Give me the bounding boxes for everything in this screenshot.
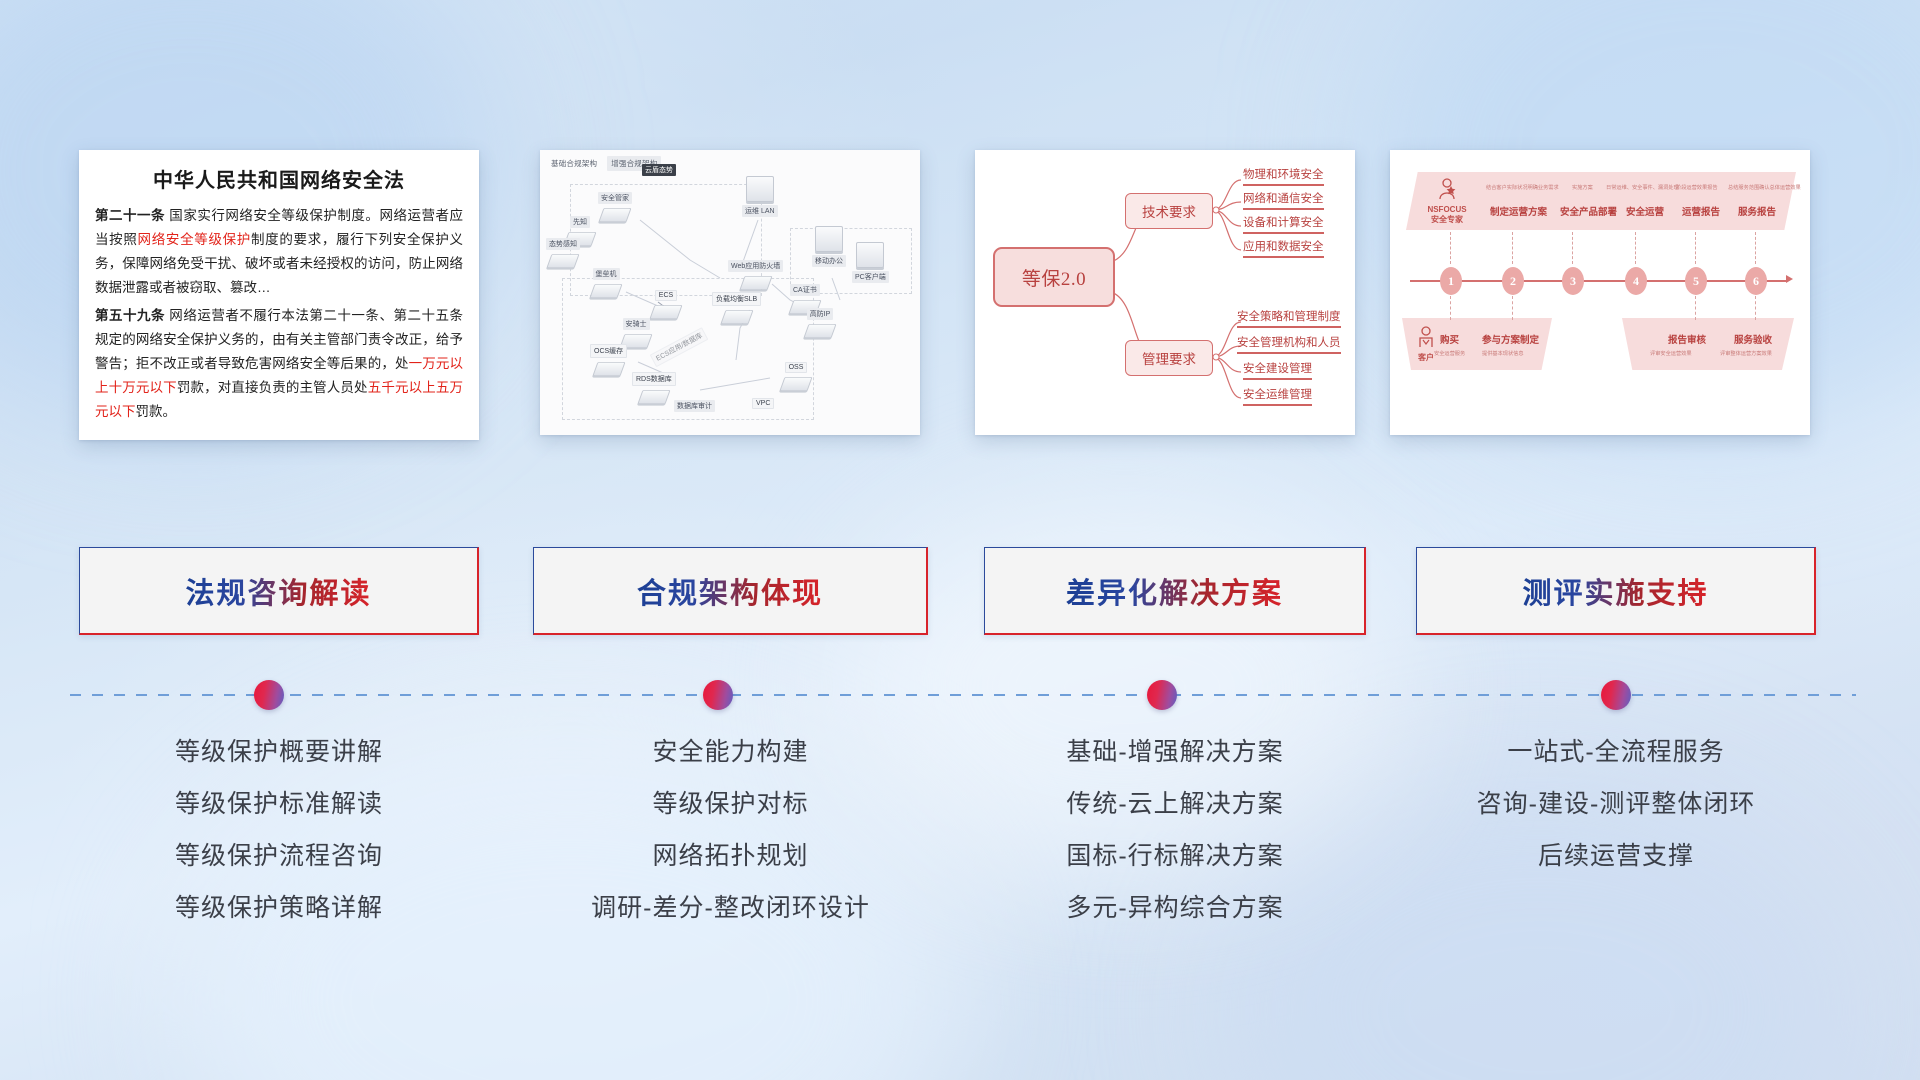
nsfocus-bottom-step-sub: 评审整体运营方案效果 <box>1720 350 1772 357</box>
architecture-node-label: 安全管家 <box>598 192 632 204</box>
nsfocus-top-step-title: 安全产品部署 <box>1560 204 1617 218</box>
server-icon <box>592 362 625 376</box>
list-item: 咨询-建设-测评整体闭环 <box>1416 792 1816 817</box>
nsfocus-bottom-step-sub: 评审安全运营效果 <box>1650 350 1692 357</box>
architecture-node-label: PC客户端 <box>852 271 889 283</box>
architecture-node-label: 高防IP <box>807 308 834 320</box>
server-icon <box>546 254 579 268</box>
preview-cards-row: 中华人民共和国网络安全法 第二十一条 国家实行网络安全等级保护制度。网络运营者应… <box>0 150 1920 445</box>
card-compliance-architecture[interactable]: 基础合规架构 增强合规架构 <box>540 150 920 435</box>
architecture-diagram: 基础合规架构 增强合规架构 <box>540 150 920 435</box>
architecture-node-db-audit: 数据库审计 <box>674 400 715 414</box>
list-item: 后续运营支撑 <box>1416 844 1816 869</box>
heading-label: 法规咨询解读 <box>185 570 371 612</box>
architecture-node-situation-awareness: 态势感知 <box>546 238 580 270</box>
mindmap-branch-management: 管理要求 <box>1125 340 1213 376</box>
nsfocus-top-step-title: 制定运营方案 <box>1490 204 1547 218</box>
mindmap-leaf: 应用和数据安全 <box>1243 238 1324 258</box>
architecture-node-rds-database: RDS数据库 <box>632 372 676 406</box>
list-item: 调研-差分-整改闭环设计 <box>533 896 928 921</box>
law-document: 中华人民共和国网络安全法 第二十一条 国家实行网络安全等级保护制度。网络运营者应… <box>79 150 479 440</box>
nsfocus-top-step-sub: 阶段运营效果报告 <box>1676 184 1718 191</box>
nsfocus-leader-line <box>1695 232 1697 264</box>
nsfocus-leader-line <box>1755 232 1757 264</box>
architecture-node-label: 负载均衡SLB <box>712 292 761 306</box>
nsfocus-leader-line <box>1695 296 1697 320</box>
heading-box-evaluation-support[interactable]: 测评实施支持 <box>1416 547 1816 635</box>
nsfocus-leader-line <box>1512 232 1514 264</box>
list-item: 安全能力构建 <box>533 740 928 765</box>
architecture-node-bastion-host: 堡垒机 <box>592 268 620 300</box>
law-article-21-highlight: 网络安全等级保护 <box>138 232 251 247</box>
architecture-node-label: 安骑士 <box>623 318 650 330</box>
architecture-node-label: Web应用防火墙 <box>728 260 783 272</box>
heading-box-compliance-architecture[interactable]: 合规架构体现 <box>533 547 928 635</box>
nsfocus-top-step-title: 运营报告 <box>1682 204 1720 218</box>
nsfocus-leader-line <box>1512 296 1514 320</box>
nsfocus-bottom-step-sub: 提供基本现状信息 <box>1482 350 1524 357</box>
architecture-node-label: 移动办公 <box>812 255 846 267</box>
nsfocus-top-step-sub: 实施方案 <box>1572 184 1593 191</box>
mindmap-leaf: 安全管理机构和人员 <box>1237 334 1341 354</box>
architecture-node-oss: OSS <box>782 362 810 393</box>
nsfocus-step-marker: 2 <box>1502 267 1524 295</box>
law-article-59-text-2: 罚款，对直接负责的主管人员处 <box>177 380 368 395</box>
expert-avatar-icon <box>1437 178 1457 200</box>
nsfocus-leader-line <box>1572 232 1574 264</box>
detail-list-compliance-architecture: 安全能力构建 等级保护对标 网络拓扑规划 调研-差分-整改闭环设计 <box>533 740 928 948</box>
architecture-node-cloud-shield: 云盾态势 <box>642 164 676 178</box>
mindmap-branch-technical: 技术要求 <box>1125 193 1213 229</box>
law-article-21: 第二十一条 国家实行网络安全等级保护制度。网络运营者应当按照网络安全等级保护制度… <box>95 204 463 300</box>
list-item: 等级保护对标 <box>533 792 928 817</box>
list-item: 多元-异构综合方案 <box>984 896 1366 921</box>
architecture-node-anti-ddos-ip: 高防IP <box>806 308 834 340</box>
timeline-dot-3[interactable] <box>1147 680 1177 710</box>
card-cybersecurity-law[interactable]: 中华人民共和国网络安全法 第二十一条 国家实行网络安全等级保护制度。网络运营者应… <box>79 150 479 440</box>
mindmap-root-node: 等保2.0 <box>993 247 1115 307</box>
legend-basic-architecture: 基础合规架构 <box>547 156 601 171</box>
architecture-node-slb: 负载均衡SLB <box>712 292 761 326</box>
slide-canvas: 中华人民共和国网络安全法 第二十一条 国家实行网络安全等级保护制度。网络运营者应… <box>0 0 1920 1080</box>
monitor-icon <box>746 176 774 202</box>
card-dengbao-mindmap[interactable]: 等保2.0 技术要求 管理要求 物理和环境安全 网络和通信安全 设备和计算安全 … <box>975 150 1355 435</box>
section-heading-row: 法规咨询解读 合规架构体现 差异化解决方案 测评实施支持 <box>0 547 1920 637</box>
detail-list-evaluation-support: 一站式-全流程服务 咨询-建设-测评整体闭环 后续运营支撑 <box>1416 740 1816 896</box>
architecture-node-pc-client: PC客户端 <box>852 242 889 283</box>
heading-label: 合规架构体现 <box>637 570 823 612</box>
mobile-icon <box>815 226 843 252</box>
architecture-node-mobile-office: 移动办公 <box>812 226 846 267</box>
mindmap-leaf: 网络和通信安全 <box>1243 190 1324 210</box>
law-article-21-label: 第二十一条 <box>95 208 165 223</box>
nsfocus-step-marker: 6 <box>1745 267 1767 295</box>
architecture-node-label: 先知 <box>570 216 590 228</box>
nsfocus-step-marker: 1 <box>1440 267 1462 295</box>
list-item: 基础-增强解决方案 <box>984 740 1366 765</box>
mindmap-leaf: 安全运维管理 <box>1243 386 1312 406</box>
nsfocus-expert-role: 安全专家 <box>1416 215 1478 225</box>
nsfocus-top-step-title: 服务报告 <box>1738 204 1776 218</box>
architecture-node-label: RDS数据库 <box>632 372 676 386</box>
detail-lists-row: 等级保护概要讲解 等级保护标准解读 等级保护流程咨询 等级保护策略详解 安全能力… <box>0 740 1920 970</box>
detail-list-regulation-consulting: 等级保护概要讲解 等级保护标准解读 等级保护流程咨询 等级保护策略详解 <box>79 740 479 948</box>
architecture-node-label: 云盾态势 <box>642 164 676 176</box>
card-nsfocus-service-timeline[interactable]: NSFOCUS 安全专家 结合客户实际状况明确业务需求 制定运营方案 实施方案 … <box>1390 150 1810 435</box>
list-item: 国标-行标解决方案 <box>984 844 1366 869</box>
mindmap-leaf: 安全策略和管理制度 <box>1237 308 1341 328</box>
nsfocus-bottom-step-title: 参与方案制定 <box>1482 332 1539 346</box>
timeline-dot-2[interactable] <box>703 680 733 710</box>
architecture-node-waf: Web应用防火墙 <box>728 260 783 292</box>
nsfocus-bottom-step-sub: 安全运营服务 <box>1434 350 1465 357</box>
timeline-dot-1[interactable] <box>254 680 284 710</box>
law-article-59: 第五十九条 网络运营者不履行本法第二十一条、第二十五条规定的网络安全保护义务的，… <box>95 304 463 424</box>
list-item: 传统-云上解决方案 <box>984 792 1366 817</box>
law-article-59-label: 第五十九条 <box>95 308 165 323</box>
nsfocus-top-step-sub: 结合客户实际状况明确业务需求 <box>1486 184 1559 191</box>
heading-box-regulation-consulting[interactable]: 法规咨询解读 <box>79 547 479 635</box>
nsfocus-expert-name: NSFOCUS <box>1416 205 1478 215</box>
list-item: 等级保护标准解读 <box>79 792 479 817</box>
architecture-node-label: 堡垒机 <box>593 268 620 280</box>
mindmap-leaf: 安全建设管理 <box>1243 360 1312 380</box>
nsfocus-leader-line <box>1450 296 1452 320</box>
architecture-node-label: 运维 LAN <box>742 205 778 217</box>
nsfocus-step-marker: 3 <box>1562 267 1584 295</box>
list-item: 网络拓扑规划 <box>533 844 928 869</box>
customer-avatar-icon <box>1417 326 1435 348</box>
law-title: 中华人民共和国网络安全法 <box>95 164 463 193</box>
nsfocus-expert-persona: NSFOCUS 安全专家 <box>1416 178 1478 225</box>
architecture-node-ops-lan: 运维 LAN <box>742 176 778 217</box>
nsfocus-leader-line <box>1450 232 1452 264</box>
nsfocus-step-marker: 5 <box>1685 267 1707 295</box>
server-icon <box>589 284 622 298</box>
heading-box-differentiated-solution[interactable]: 差异化解决方案 <box>984 547 1366 635</box>
nsfocus-top-step-sub: 总结服务范围确认总体运营效果 <box>1728 184 1801 191</box>
nsfocus-axis-line <box>1410 280 1788 282</box>
nsfocus-timeline: NSFOCUS 安全专家 结合客户实际状况明确业务需求 制定运营方案 实施方案 … <box>1390 150 1810 435</box>
detail-list-differentiated-solution: 基础-增强解决方案 传统-云上解决方案 国标-行标解决方案 多元-异构综合方案 <box>984 740 1366 948</box>
nsfocus-bottom-step-title: 购买 <box>1440 332 1459 346</box>
list-item: 一站式-全流程服务 <box>1416 740 1816 765</box>
firewall-icon <box>739 276 772 290</box>
architecture-node-label: OCS缓存 <box>590 344 627 358</box>
law-article-59-text-3: 罚款。 <box>136 404 177 419</box>
architecture-node-security-housekeeper: 安全管家 <box>598 192 632 224</box>
loadbalancer-icon <box>720 310 753 324</box>
architecture-node-label: 态势感知 <box>546 238 580 250</box>
architecture-node-vpc: VPC <box>752 398 774 411</box>
nsfocus-step-marker: 4 <box>1625 267 1647 295</box>
timeline-dot-4[interactable] <box>1601 680 1631 710</box>
architecture-node-ecs: ECS <box>652 290 680 321</box>
timeline-dashed-line <box>70 694 1856 696</box>
architecture-node-ocs-cache: OCS缓存 <box>590 344 627 378</box>
list-item: 等级保护策略详解 <box>79 896 479 921</box>
mindmap-diagram: 等保2.0 技术要求 管理要求 物理和环境安全 网络和通信安全 设备和计算安全 … <box>975 150 1355 435</box>
mindmap-leaf: 设备和计算安全 <box>1243 214 1324 234</box>
list-item: 等级保护概要讲解 <box>79 740 479 765</box>
nsfocus-bottom-step-title: 报告审核 <box>1668 332 1706 346</box>
database-icon <box>637 390 670 404</box>
storage-icon <box>779 377 812 391</box>
shield-icon <box>803 324 836 338</box>
mindmap-leaf: 物理和环境安全 <box>1243 166 1324 186</box>
nsfocus-axis-arrow <box>1786 275 1793 283</box>
nsfocus-bottom-step-title: 服务验收 <box>1734 332 1772 346</box>
heading-label: 差异化解决方案 <box>1066 570 1283 612</box>
list-item: 等级保护流程咨询 <box>79 844 479 869</box>
architecture-node-label: 数据库审计 <box>674 400 715 412</box>
nsfocus-leader-line <box>1635 232 1637 264</box>
architecture-node-label: CA证书 <box>790 284 820 296</box>
nsfocus-top-step-sub: 日常运维、安全事件、漏洞处理 <box>1606 184 1679 191</box>
architecture-node-label: OSS <box>785 362 808 373</box>
architecture-node-label: VPC <box>752 398 774 409</box>
server-icon <box>598 208 631 222</box>
desktop-icon <box>856 242 884 268</box>
architecture-node-label: ECS <box>655 290 677 301</box>
nsfocus-top-step-title: 安全运营 <box>1626 204 1664 218</box>
nsfocus-leader-line <box>1755 296 1757 320</box>
heading-label: 测评实施支持 <box>1522 570 1708 612</box>
server-icon <box>649 305 682 319</box>
